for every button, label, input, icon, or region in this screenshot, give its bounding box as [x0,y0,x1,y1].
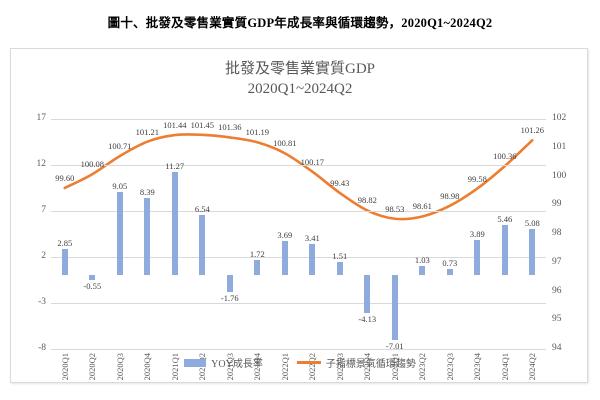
y-axis-right-tick: 102 [552,113,566,123]
legend-bar-label: YOY成長率 [211,355,263,370]
legend-bar-swatch-icon [184,359,206,367]
y-axis-right-tick: 98 [552,228,562,238]
line-value-label: 98.98 [440,191,459,201]
bar-value-label: 3.89 [470,229,485,239]
line-value-label: 101.44 [163,120,186,130]
line-value-label: 98.53 [385,204,404,214]
bar-value-label: -1.76 [221,293,239,303]
bar-value-label: 11.27 [165,161,184,171]
gridline [51,349,546,350]
bar [144,198,150,275]
y-axis-left-tick: -3 [38,297,46,307]
bar-value-label: 1.03 [415,255,430,265]
gridline [51,257,546,258]
bar [392,275,398,339]
line-value-label: 100.17 [301,157,324,167]
line-value-label: 101.19 [246,127,269,137]
y-axis-left-tick: 17 [37,113,47,123]
line-value-label: 99.43 [330,178,349,188]
bar-value-label: 3.69 [277,230,292,240]
gridline [51,211,546,212]
bar-value-label: 0.73 [442,258,457,268]
chart-title-line2: 2020Q1~2024Q2 [11,79,589,99]
plot-area: 171272-3-81021011009998979695942.85-0.55… [51,119,546,349]
chart-container: 批發及零售業實質GDP 2020Q1~2024Q2 171272-3-81021… [10,48,588,383]
line-value-label: 100.81 [273,138,296,148]
line-value-label: 101.36 [218,122,241,132]
legend-item-line: 子指標景氣循環趨勢 [297,355,416,370]
bar-value-label: -0.55 [83,281,101,291]
y-axis-left-tick: 12 [37,159,47,169]
line-value-label: 99.58 [468,174,487,184]
bar [337,262,343,276]
line-value-label: 100.71 [108,141,131,151]
gridline [51,303,546,304]
bar [117,192,123,275]
chart-legend: YOY成長率 子指標景氣循環趨勢 [11,355,589,370]
bar-value-label: 9.05 [112,181,127,191]
bar-value-label: 5.46 [497,214,512,224]
figure-caption: 圖十、批發及零售業實質GDP年成長率與循環趨勢，2020Q1~2024Q2 [0,12,600,31]
line-value-label: 98.61 [413,201,432,211]
line-value-label: 100.08 [81,159,104,169]
y-axis-right-tick: 99 [552,199,562,209]
bar-value-label: 5.08 [525,218,540,228]
legend-line-label: 子指標景氣循環趨勢 [326,355,416,370]
legend-item-bar: YOY成長率 [184,355,263,370]
bar [227,275,233,291]
bar-value-label: 1.51 [332,251,347,261]
y-axis-right-tick: 95 [552,314,562,324]
bar-value-label: 3.41 [305,233,320,243]
chart-title-line1: 批發及零售業實質GDP [225,61,375,77]
y-axis-left-tick: 7 [41,205,46,215]
bar-value-label: 2.85 [57,238,72,248]
bar [447,269,453,276]
line-value-label: 100.36 [493,151,516,161]
bar [529,229,535,276]
line-value-label: 98.82 [358,195,377,205]
gridline [51,119,546,120]
bar [309,244,315,275]
bar [254,260,260,276]
y-axis-right-tick: 97 [552,257,562,267]
line-value-label: 101.21 [136,127,159,137]
line-value-label: 101.26 [521,125,544,135]
line-value-label: 99.60 [55,173,74,183]
gridline [51,165,546,166]
y-axis-right-tick: 100 [552,171,566,181]
bar [502,225,508,275]
y-axis-left-tick: -8 [38,343,46,353]
bar [199,215,205,275]
bar [172,172,178,276]
line-value-label: 101.45 [191,120,214,130]
bar-value-label: -7.01 [386,341,404,351]
bar [62,249,68,275]
bar-value-label: 8.39 [140,187,155,197]
y-axis-left-tick: 2 [41,251,46,261]
y-axis-right-tick: 94 [552,343,562,353]
trend-line-path [65,134,533,219]
bar-value-label: 1.72 [250,249,265,259]
bar [89,275,95,280]
bar-value-label: 6.54 [195,204,210,214]
legend-line-swatch-icon [297,361,321,364]
bar [282,241,288,275]
bar [419,266,425,275]
bar [364,275,370,313]
bar [474,240,480,276]
y-axis-right-tick: 101 [552,142,566,152]
bar-value-label: -4.13 [358,314,376,324]
chart-title: 批發及零售業實質GDP 2020Q1~2024Q2 [11,59,589,99]
y-axis-right-tick: 96 [552,286,562,296]
